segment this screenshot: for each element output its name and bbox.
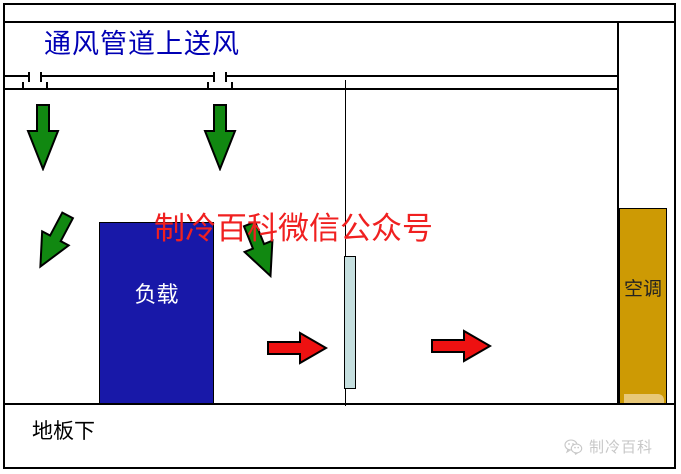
load-block: 负载 — [99, 222, 214, 404]
ac-base-foot — [624, 394, 664, 403]
duct-plenum-strip — [5, 10, 674, 23]
load-label: 负载 — [100, 283, 213, 309]
air-conditioner-unit: 空调 — [619, 208, 667, 404]
underfloor-label: 地板下 — [32, 418, 95, 444]
supply-air-arrow-2 — [203, 103, 237, 171]
page-title: 通风管道上送风 — [44, 28, 240, 62]
rack-partition — [344, 256, 356, 389]
supply-air-arrow-1 — [26, 103, 60, 171]
air-conditioner-label: 空调 — [620, 277, 666, 301]
return-air-arrow-2 — [430, 328, 492, 364]
overlay-watermark-text: 制冷百科微信公众号 — [154, 210, 433, 248]
supply-diffuser-right — [207, 72, 233, 89]
diffuser-plate — [207, 82, 233, 90]
supply-diffuser-left — [22, 72, 48, 89]
corner-watermark-text: 制冷百科 — [589, 438, 653, 456]
corner-watermark: 制冷百科 — [564, 438, 653, 456]
diagram-canvas: 通风管道上送风 — [0, 0, 681, 474]
wechat-icon — [564, 439, 583, 455]
floor-line — [5, 403, 674, 405]
supply-air-arrow-3 — [24, 208, 84, 274]
diffuser-plate — [22, 82, 48, 90]
return-air-arrow-1 — [266, 330, 328, 366]
ceiling-line — [5, 88, 618, 90]
